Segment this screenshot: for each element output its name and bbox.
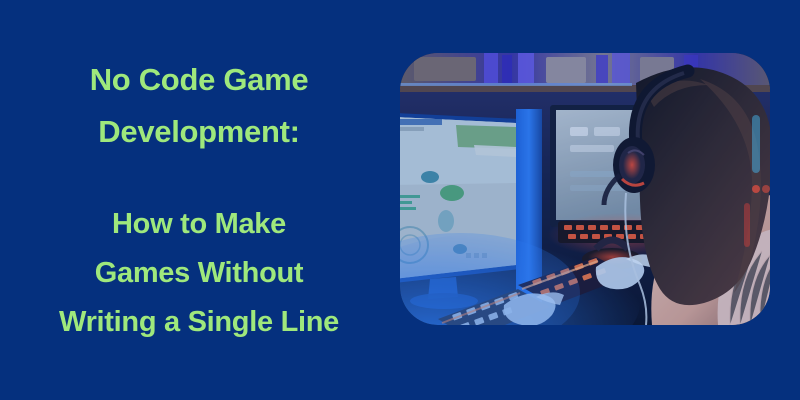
primary-headline-line-1: No Code Game	[0, 54, 398, 106]
primary-headline-line-2: Development:	[0, 106, 398, 158]
secondary-headline-line-1: How to Make	[0, 200, 398, 249]
headline-column: No Code Game Development: How to Make Ga…	[0, 0, 398, 400]
blog-banner: No Code Game Development: How to Make Ga…	[0, 0, 800, 400]
secondary-headline: How to Make Games Without Writing a Sing…	[0, 200, 398, 347]
secondary-headline-line-2: Games Without	[0, 249, 398, 298]
gamer-photo	[400, 53, 770, 325]
gamer-photo-illustration	[400, 53, 770, 325]
primary-headline: No Code Game Development:	[0, 54, 398, 158]
secondary-headline-line-3: Writing a Single Line	[0, 298, 398, 347]
